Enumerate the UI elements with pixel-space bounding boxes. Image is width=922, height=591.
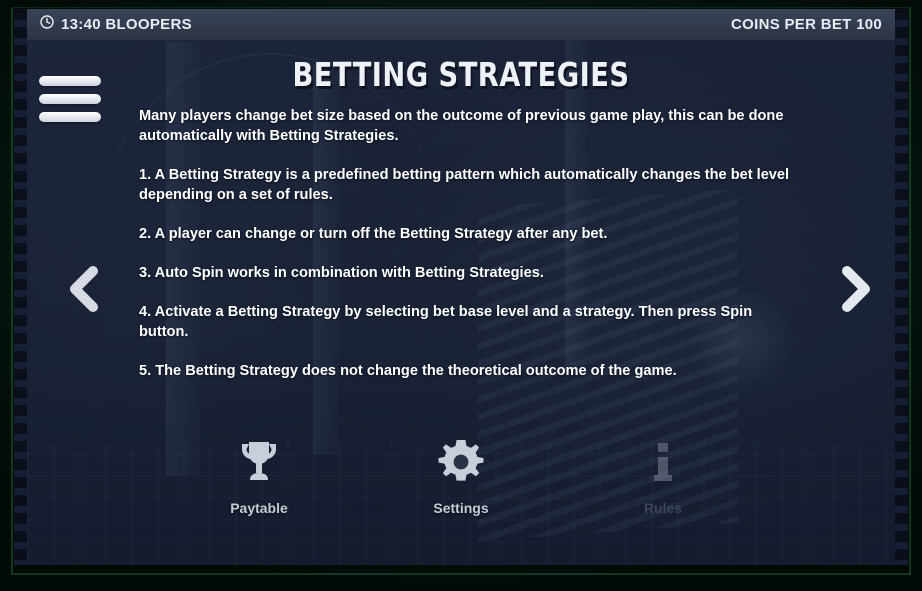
frame-border-bottom <box>11 573 911 575</box>
paragraph-rule-2: 2. A player can change or turn off the B… <box>139 224 799 244</box>
tab-rules-label: Rules <box>597 500 729 516</box>
info-panel: 13:40 BLOOPERS COINS PER BET 100 <box>27 9 895 565</box>
trophy-icon <box>193 433 325 491</box>
tab-rules[interactable]: Rules <box>597 433 729 516</box>
hamburger-bar <box>39 94 101 104</box>
chevron-left-icon <box>63 261 107 317</box>
section-tab-bar: Paytable Settings <box>27 433 895 516</box>
paragraph-intro: Many players change bet size based on th… <box>139 106 799 146</box>
rules-text-block: Many players change bet size based on th… <box>139 106 799 381</box>
coins-per-bet-label: COINS PER BET 100 <box>731 16 882 33</box>
gear-icon <box>395 433 527 491</box>
paragraph-rule-1: 1. A Betting Strategy is a predefined be… <box>139 165 799 205</box>
paragraph-rule-3: 3. Auto Spin works in combination with B… <box>139 263 799 283</box>
frame-border-left <box>11 8 13 574</box>
frame-border-right <box>909 8 911 574</box>
paragraph-rule-4: 4. Activate a Betting Strategy by select… <box>139 302 799 342</box>
hamburger-menu-button[interactable] <box>35 72 105 126</box>
tab-paytable-label: Paytable <box>193 500 325 516</box>
clock-icon <box>40 15 54 34</box>
page-title: BETTING STRATEGIES <box>62 58 861 92</box>
clock-and-game-label: 13:40 BLOOPERS <box>61 16 192 33</box>
info-icon <box>597 433 729 491</box>
chevron-right-icon <box>833 261 877 317</box>
film-perforation-left <box>14 9 27 565</box>
hamburger-bar <box>39 112 101 122</box>
hamburger-bar <box>39 76 101 86</box>
frame-border-top <box>11 7 911 8</box>
game-frame: 13:40 BLOOPERS COINS PER BET 100 <box>0 0 922 591</box>
paragraph-rule-5: 5. The Betting Strategy does not change … <box>139 361 799 381</box>
tab-settings-label: Settings <box>395 500 527 516</box>
tab-paytable[interactable]: Paytable <box>193 433 325 516</box>
tab-settings[interactable]: Settings <box>395 433 527 516</box>
previous-page-button[interactable] <box>63 261 107 317</box>
page-content: BETTING STRATEGIES Many players change b… <box>27 40 895 565</box>
film-perforation-right <box>895 9 908 565</box>
next-page-button[interactable] <box>833 261 877 317</box>
status-bar-left: 13:40 BLOOPERS <box>40 15 192 34</box>
status-bar: 13:40 BLOOPERS COINS PER BET 100 <box>27 9 895 40</box>
